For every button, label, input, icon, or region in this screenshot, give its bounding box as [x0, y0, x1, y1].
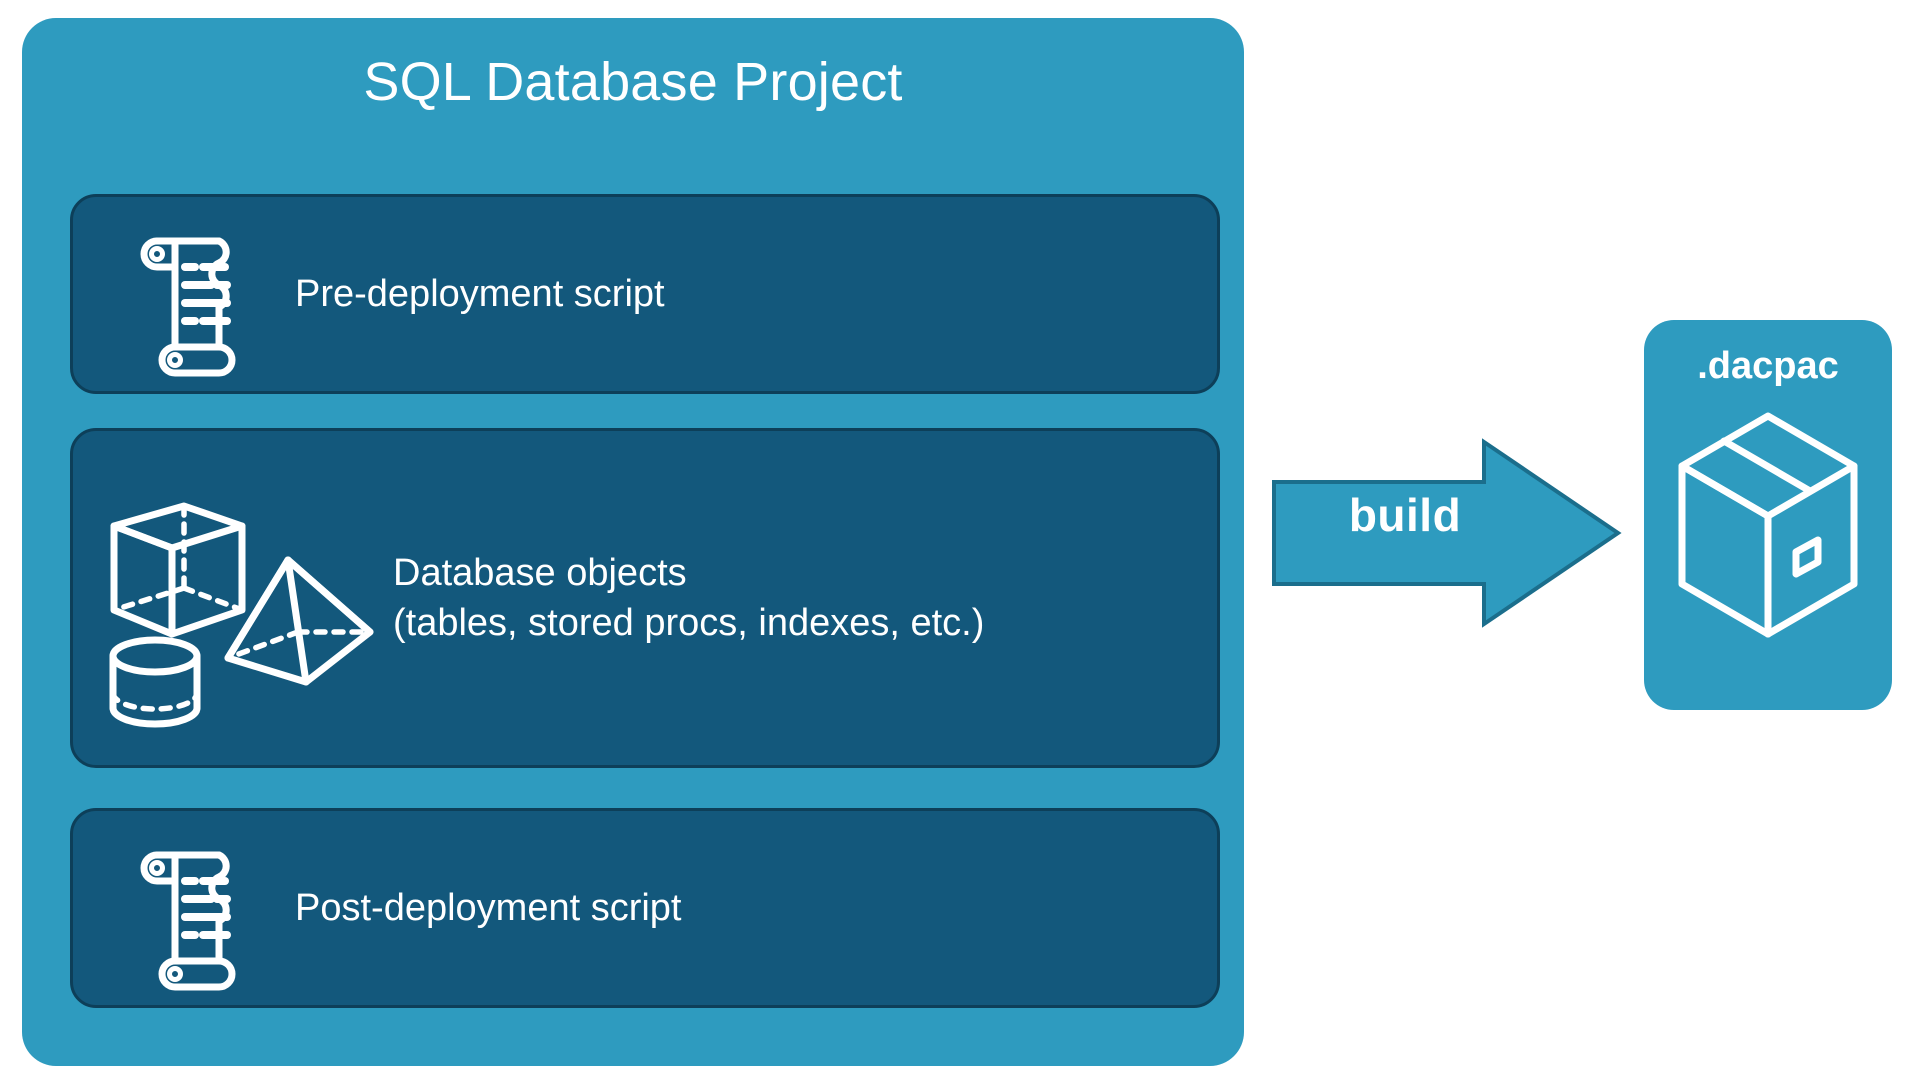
project-title: SQL Database Project	[22, 50, 1244, 114]
card-label-pre-deployment: Pre-deployment script	[295, 269, 665, 319]
sql-database-project-panel: SQL Database Project	[22, 18, 1244, 1066]
dacpac-title: .dacpac	[1644, 342, 1892, 390]
scroll-icon-post	[93, 833, 283, 983]
build-arrow-label: build	[1300, 487, 1510, 543]
database-object-shapes	[87, 468, 387, 728]
package-box-icon	[1666, 398, 1870, 682]
cube-icon	[114, 506, 242, 634]
scroll-icon-pre	[93, 219, 283, 369]
card-post-deployment[interactable]: Post-deployment script	[70, 808, 1220, 1008]
diagram-canvas: SQL Database Project	[0, 0, 1920, 1080]
card-database-objects[interactable]: Database objects (tables, stored procs, …	[70, 428, 1220, 768]
pyramid-icon	[228, 560, 370, 682]
dacpac-output-card[interactable]: .dacpac	[1644, 320, 1892, 710]
card-label-database-objects: Database objects (tables, stored procs, …	[393, 548, 984, 648]
cylinder-icon	[113, 640, 197, 724]
card-label-post-deployment: Post-deployment script	[295, 883, 682, 933]
card-pre-deployment[interactable]: Pre-deployment script	[70, 194, 1220, 394]
